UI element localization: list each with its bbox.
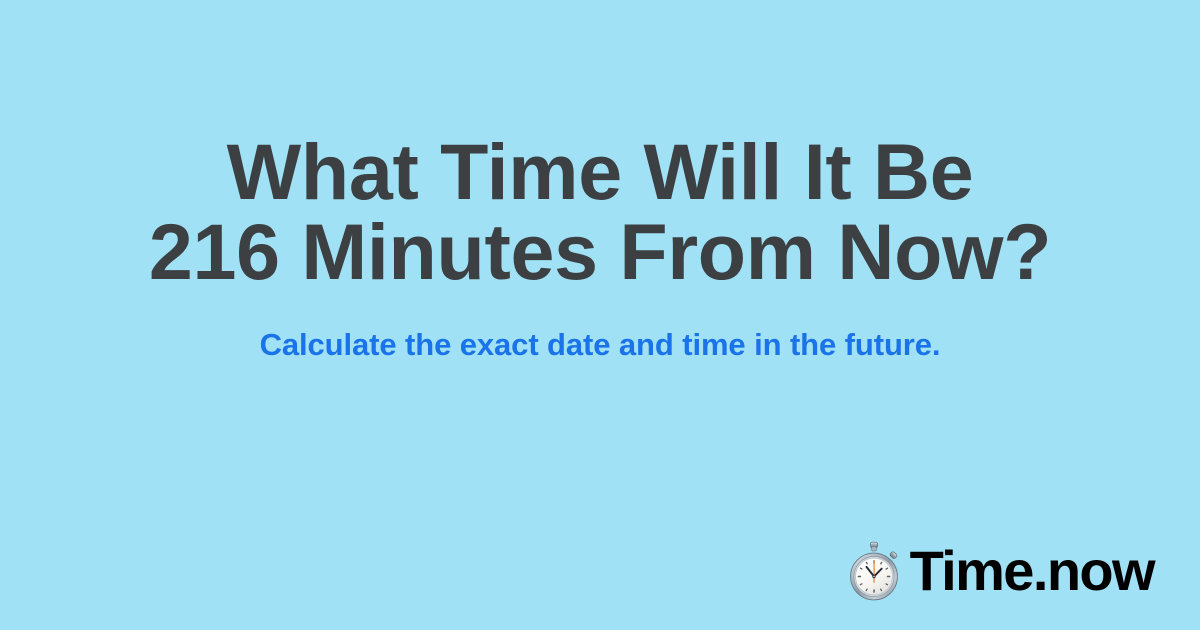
stopwatch-icon (846, 541, 902, 601)
headline: What Time Will It Be 216 Minutes From No… (0, 132, 1200, 292)
brand-logo[interactable]: Time.now (846, 540, 1154, 602)
page-title: What Time Will It Be 216 Minutes From No… (0, 132, 1200, 292)
headline-line-2: 216 Minutes From Now? (0, 212, 1200, 292)
headline-line-1: What Time Will It Be (0, 132, 1200, 212)
page-subtitle: Calculate the exact date and time in the… (0, 326, 1200, 364)
social-card: What Time Will It Be 216 Minutes From No… (0, 0, 1200, 630)
brand-name: Time.now (910, 542, 1154, 600)
stopwatch-icon-wrapper (846, 541, 902, 601)
